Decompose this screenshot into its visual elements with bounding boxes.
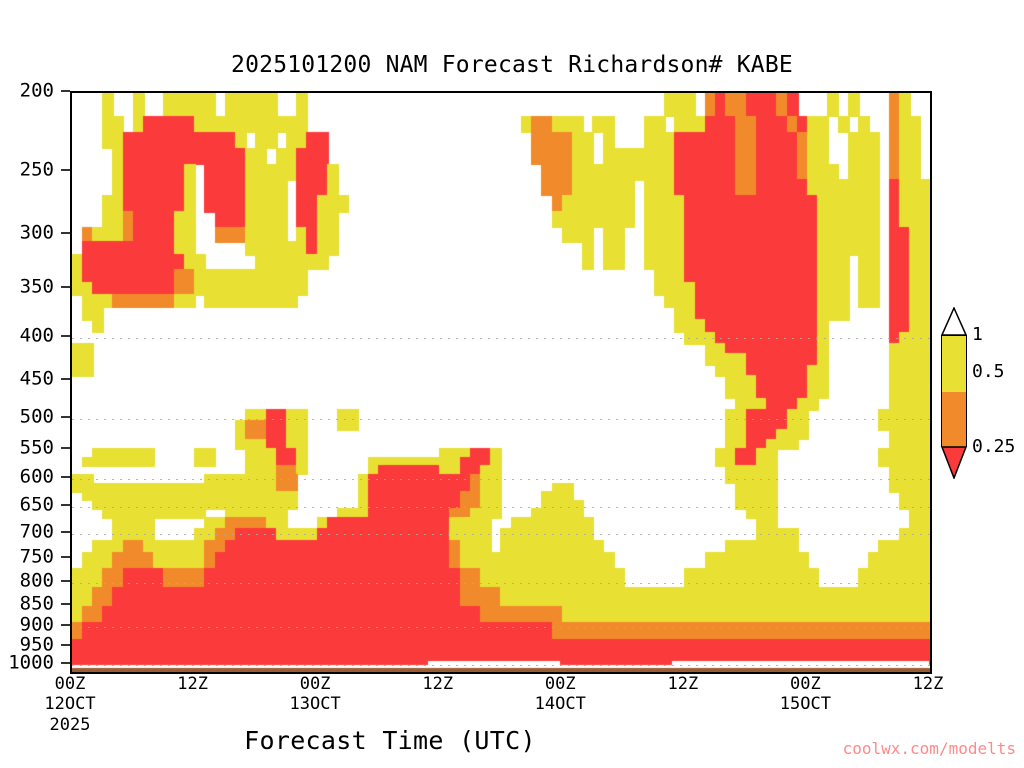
x-tick-2: 00Z13OCT	[290, 674, 341, 715]
x-tick-time: 00Z	[44, 674, 95, 694]
colorbar-label-1: 1	[972, 326, 983, 344]
y-tick-mark-950	[61, 644, 70, 646]
y-tick-label-200: 200	[20, 82, 54, 101]
colorbar-arrow-below-0.25	[941, 446, 967, 479]
y-tick-mark-900	[61, 624, 70, 626]
y-tick-mark-250	[61, 169, 70, 171]
y-tick-mark-450	[61, 378, 70, 380]
y-tick-label-800: 800	[20, 572, 54, 591]
y-tick-label-250: 250	[20, 161, 54, 180]
x-tick-time: 12Z	[668, 674, 699, 694]
colorbar-arrow-above-1-outline	[941, 307, 967, 336]
y-tick-label-550: 550	[20, 439, 54, 458]
x-tick-4: 00Z14OCT	[535, 674, 586, 715]
y-tick-mark-650	[61, 504, 70, 506]
x-tick-day: 12OCT	[44, 694, 95, 715]
x-tick-time: 12Z	[422, 674, 453, 694]
colorbar-segment-orange	[942, 392, 966, 448]
y-tick-mark-750	[61, 556, 70, 558]
colorbar-legend: 10.50.25	[941, 307, 967, 477]
plot-area	[70, 91, 932, 674]
x-tick-time: 00Z	[780, 674, 831, 694]
y-tick-label-350: 350	[20, 278, 54, 297]
x-axis-title: Forecast Time (UTC)	[0, 726, 780, 755]
x-tick-6: 00Z15OCT	[780, 674, 831, 715]
y-tick-mark-600	[61, 476, 70, 478]
colorbar-label-0.25: 0.25	[972, 438, 1015, 456]
x-tick-time: 00Z	[535, 674, 586, 694]
y-tick-mark-400	[61, 335, 70, 337]
y-tick-label-1000: 1000	[8, 654, 54, 673]
y-tick-label-850: 850	[20, 595, 54, 614]
y-tick-label-300: 300	[20, 224, 54, 243]
richardson-number-heatmap	[72, 93, 930, 672]
colorbar-label-0.5: 0.5	[972, 363, 1005, 381]
y-tick-label-450: 450	[20, 370, 54, 389]
y-tick-mark-300	[61, 232, 70, 234]
x-tick-3: 12Z	[422, 674, 453, 694]
x-tick-5: 12Z	[668, 674, 699, 694]
y-tick-mark-550	[61, 447, 70, 449]
colorbar-segment-yellow	[942, 336, 966, 392]
y-axis: 2002503003504004505005506006507007508008…	[0, 91, 70, 670]
x-tick-1: 12Z	[177, 674, 208, 694]
y-tick-mark-850	[61, 603, 70, 605]
x-tick-time: 12Z	[177, 674, 208, 694]
x-tick-day: 15OCT	[780, 694, 831, 715]
y-tick-mark-1000	[61, 662, 70, 664]
x-tick-time: 00Z	[290, 674, 341, 694]
colorbar-body	[941, 335, 967, 447]
y-tick-label-900: 900	[20, 616, 54, 635]
y-tick-mark-200	[61, 90, 70, 92]
x-tick-7: 12Z	[913, 674, 944, 694]
x-tick-day: 13OCT	[290, 694, 341, 715]
y-tick-label-750: 750	[20, 548, 54, 567]
y-tick-label-700: 700	[20, 523, 54, 542]
page-title: 2025101200 NAM Forecast Richardson# KABE	[0, 52, 1024, 78]
y-tick-label-400: 400	[20, 327, 54, 346]
y-tick-label-650: 650	[20, 496, 54, 515]
y-tick-label-600: 600	[20, 468, 54, 487]
y-tick-mark-700	[61, 531, 70, 533]
y-tick-mark-350	[61, 286, 70, 288]
x-tick-day: 14OCT	[535, 694, 586, 715]
y-tick-mark-500	[61, 416, 70, 418]
chart-stage: 2025101200 NAM Forecast Richardson# KABE…	[0, 0, 1024, 768]
watermark: coolwx.com/modelts	[843, 739, 1016, 758]
y-tick-mark-800	[61, 580, 70, 582]
y-tick-label-500: 500	[20, 408, 54, 427]
x-tick-time: 12Z	[913, 674, 944, 694]
